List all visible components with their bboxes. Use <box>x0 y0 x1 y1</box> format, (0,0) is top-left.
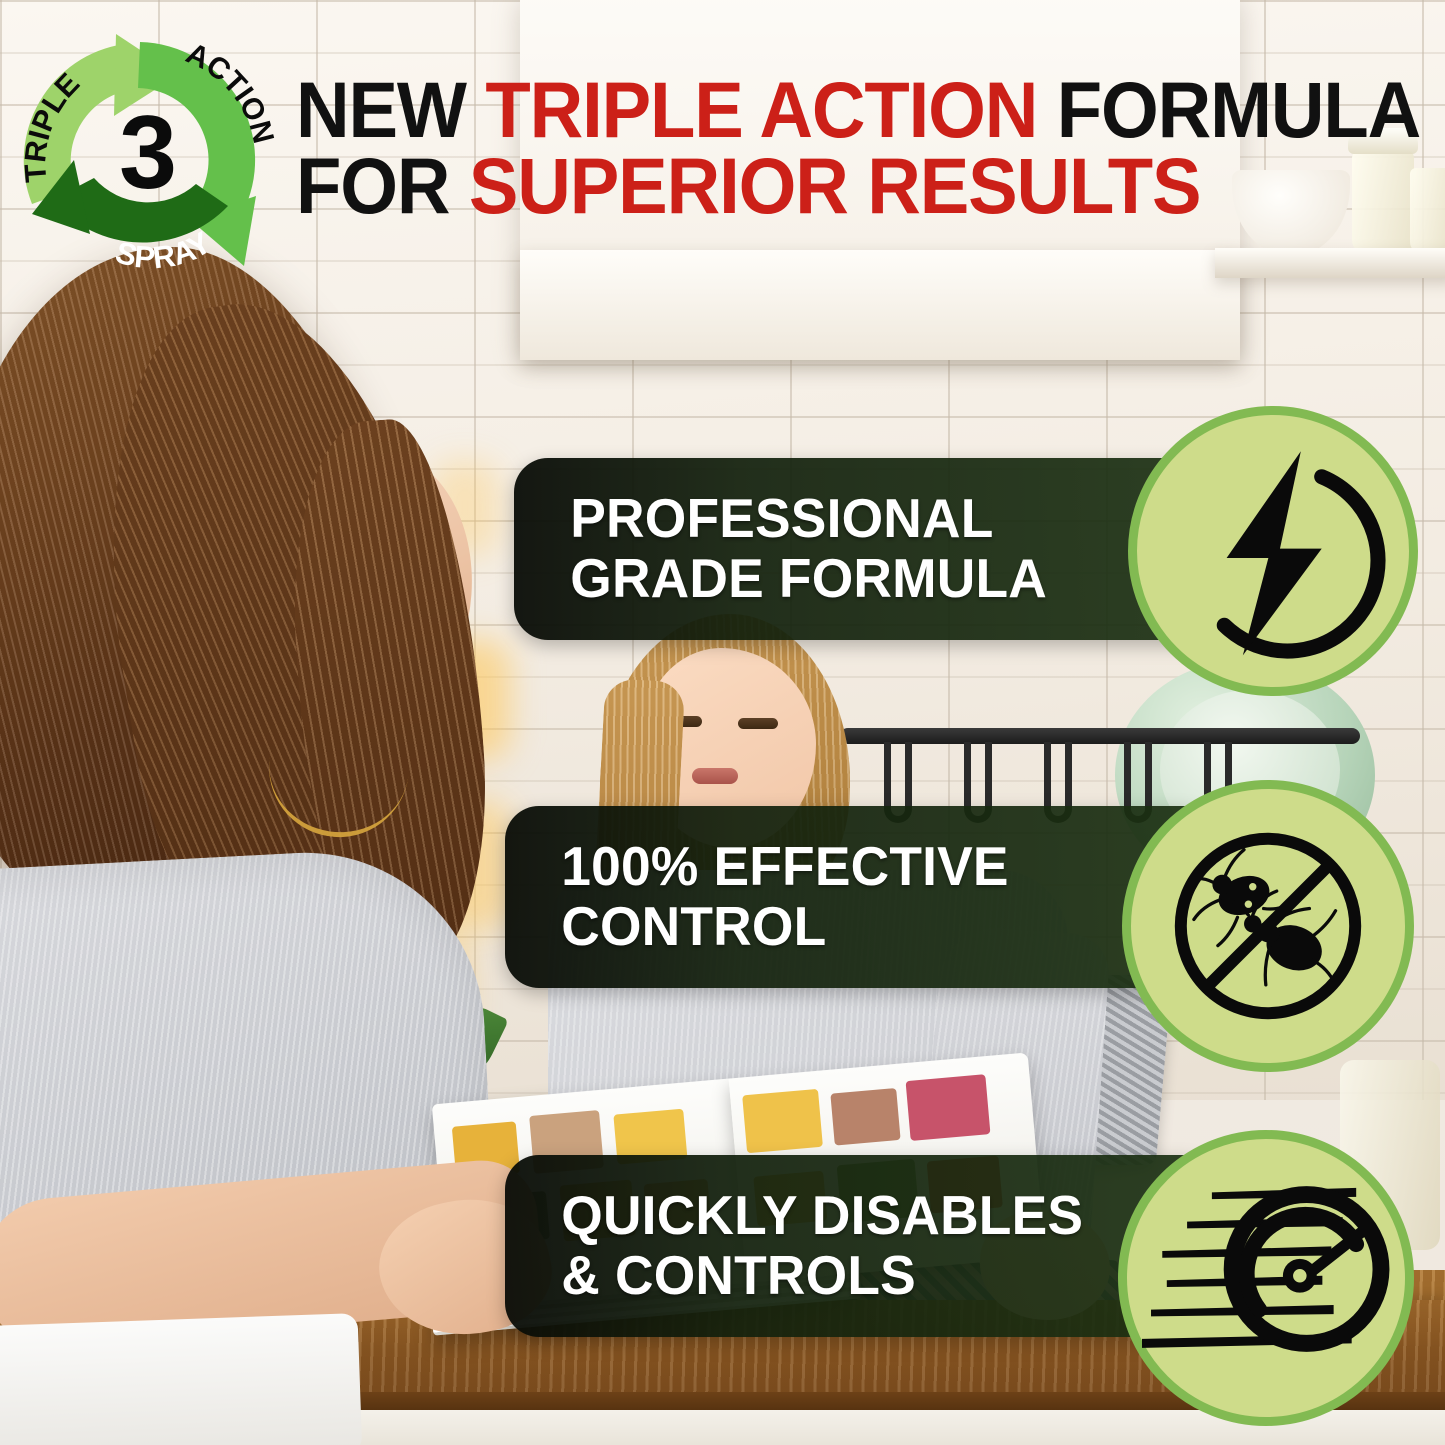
headline-accent-2: SUPERIOR RESULTS <box>469 141 1201 230</box>
cabinet-lip <box>520 250 1240 360</box>
feature-line-2: & CONTROLS <box>561 1246 1083 1306</box>
feature-text: PROFESSIONAL GRADE FORMULA <box>514 489 1047 609</box>
kitchen-shelf <box>1215 248 1445 278</box>
no-bugs-icon <box>1159 817 1377 1035</box>
headline-plain-2: FOR <box>296 141 469 230</box>
woman-white-jeans <box>0 1313 362 1445</box>
feature-line-2: CONTROL <box>561 897 1008 957</box>
feature-panel: QUICKLY DISABLES & CONTROLS <box>505 1155 1195 1337</box>
lightning-bolt-icon <box>1157 435 1389 667</box>
feature-line-2: GRADE FORMULA <box>570 549 1047 609</box>
speedometer-icon <box>1142 1165 1390 1391</box>
feature-line-1: 100% EFFECTIVE <box>561 837 1008 897</box>
headline-line-1: NEW TRIPLE ACTION FORMULA <box>296 72 1363 148</box>
feature-icon-circle <box>1128 406 1418 696</box>
feature-icon-circle <box>1122 780 1414 1072</box>
promo-banner: TRIPLE ACTION SPRAY 3 NEW TRIPLE ACTION … <box>0 0 1445 1445</box>
child-lips <box>692 768 738 784</box>
feature-icon-circle <box>1118 1130 1414 1426</box>
triple-action-badge-icon: TRIPLE ACTION SPRAY 3 <box>18 28 283 280</box>
utensil-rail <box>840 728 1360 744</box>
feature-panel: PROFESSIONAL GRADE FORMULA <box>514 458 1194 640</box>
glass-jar <box>1410 168 1445 254</box>
page-title: NEW TRIPLE ACTION FORMULA FOR SUPERIOR R… <box>296 72 1363 224</box>
feature-panel: 100% EFFECTIVE CONTROL <box>505 806 1195 988</box>
child-eye <box>738 718 778 729</box>
badge-number-3: 3 <box>119 95 177 211</box>
feature-text: 100% EFFECTIVE CONTROL <box>505 837 1009 957</box>
feature-line-1: QUICKLY DISABLES <box>561 1186 1083 1246</box>
feature-text: QUICKLY DISABLES & CONTROLS <box>505 1186 1083 1306</box>
triple-action-spray-badge: TRIPLE ACTION SPRAY 3 <box>18 28 283 280</box>
headline-line-2: FOR SUPERIOR RESULTS <box>296 148 1363 224</box>
feature-line-1: PROFESSIONAL <box>570 489 1047 549</box>
